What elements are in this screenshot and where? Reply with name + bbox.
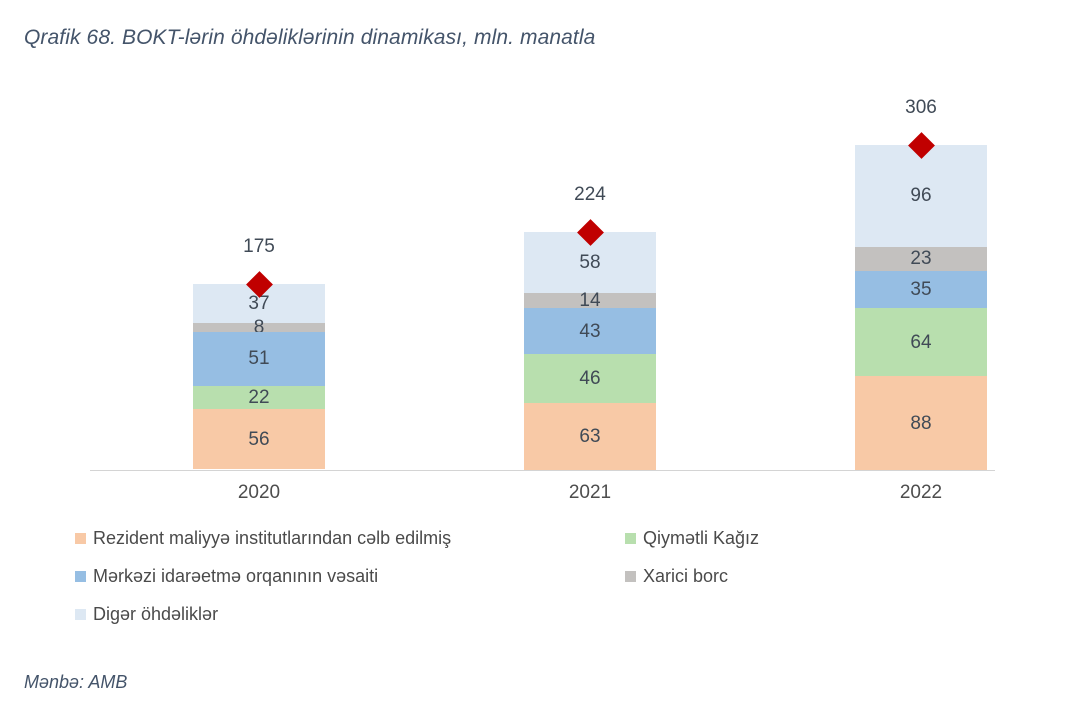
bar-segment-value: 51: [248, 349, 269, 368]
legend-swatch-icon: [625, 533, 636, 544]
legend-item-label: Xarici borc: [643, 566, 728, 587]
bar-stack[interactable]: 5814434663: [524, 232, 656, 470]
legend-swatch-icon: [75, 571, 86, 582]
legend-item[interactable]: Mərkəzi idarəetmə orqanının vəsaiti: [75, 566, 378, 587]
legend-item-label: Rezident maliyyə institutlarından cəlb e…: [93, 528, 451, 549]
legend-item-label: Digər öhdəliklər: [93, 604, 218, 625]
legend-swatch-icon: [75, 533, 86, 544]
bar-segment[interactable]: 14: [524, 293, 656, 308]
bar-segment-value: 22: [248, 388, 269, 407]
bar-segment[interactable]: 23: [855, 247, 987, 271]
bar-segment[interactable]: 51: [193, 332, 325, 386]
bar-segment-value: 35: [910, 280, 931, 299]
bar-total-label: 306: [855, 97, 987, 119]
bar-stack[interactable]: 378512256: [193, 284, 325, 470]
bar-segment-value: 56: [248, 430, 269, 449]
bar-segment-value: 96: [910, 186, 931, 205]
legend-item-label: Mərkəzi idarəetmə orqanının vəsaiti: [93, 566, 378, 587]
bar-segment-value: 23: [910, 249, 931, 268]
legend-item[interactable]: Rezident maliyyə institutlarından cəlb e…: [75, 528, 451, 549]
bar-segment-value: 46: [579, 369, 600, 388]
bar-stack[interactable]: 9623356488: [855, 145, 987, 470]
legend-item[interactable]: Qiymətli Kağız: [625, 528, 759, 549]
source-note: Mənbə: AMB: [24, 672, 127, 693]
legend-item[interactable]: Digər öhdəliklər: [75, 604, 218, 625]
x-axis-line: [90, 470, 995, 471]
bar-segment[interactable]: 96: [855, 145, 987, 247]
legend-item-label: Qiymətli Kağız: [643, 528, 759, 549]
legend-swatch-icon: [75, 609, 86, 620]
legend-swatch-icon: [625, 571, 636, 582]
bar-segment[interactable]: 63: [524, 403, 656, 470]
x-axis-tick-label: 2020: [193, 482, 325, 504]
legend-item[interactable]: Xarici borc: [625, 566, 728, 587]
bar-segment-value: 88: [910, 414, 931, 433]
bar-segment[interactable]: 88: [855, 376, 987, 470]
bar-total-label: 224: [524, 184, 656, 206]
x-axis-tick-label: 2022: [855, 482, 987, 504]
bar-segment[interactable]: 43: [524, 308, 656, 354]
bar-segment[interactable]: 35: [855, 271, 987, 308]
bar-segment[interactable]: 8: [193, 323, 325, 332]
bar-segment-value: 43: [579, 322, 600, 341]
bar-segment[interactable]: 22: [193, 386, 325, 409]
bar-segment[interactable]: 46: [524, 354, 656, 403]
bar-segment-value: 58: [579, 253, 600, 272]
bar-segment-value: 64: [910, 333, 931, 352]
x-axis-tick-label: 2021: [524, 482, 656, 504]
bar-segment[interactable]: 56: [193, 409, 325, 469]
bar-segment[interactable]: 64: [855, 308, 987, 376]
bar-total-label: 175: [193, 236, 325, 258]
bar-segment-value: 63: [579, 427, 600, 446]
